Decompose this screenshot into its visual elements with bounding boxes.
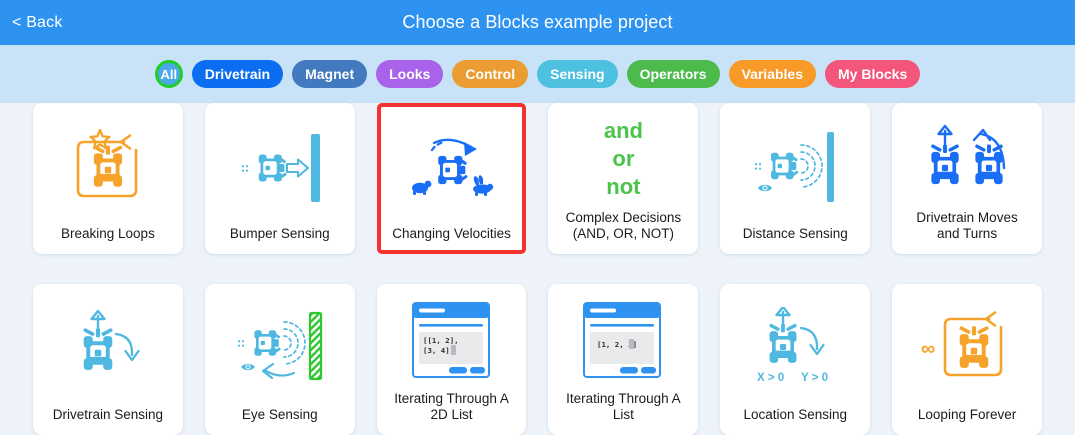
svg-text:X > 0: X > 0 xyxy=(757,372,784,384)
filter-chip-my-blocks[interactable]: My Blocks xyxy=(825,60,920,88)
project-card-label: Complex Decisions(AND, OR, NOT) xyxy=(566,210,682,246)
location-sensing-icon: X > 0 Y > 0 xyxy=(726,290,864,407)
filter-chip-sensing[interactable]: Sensing xyxy=(537,60,617,88)
filter-chip-variables[interactable]: Variables xyxy=(729,60,817,88)
project-card-label-line: Iterating Through A xyxy=(394,391,509,407)
project-card-eye-sensing[interactable]: Eye Sensing xyxy=(205,284,355,435)
breaking-loops-icon xyxy=(39,109,177,226)
filter-chip-label: All xyxy=(160,67,177,82)
project-card-drivetrain-moves-and-turns[interactable]: Drivetrain Movesand Turns xyxy=(892,103,1042,254)
distance-sensing-icon xyxy=(726,109,864,226)
project-card-label-line: (AND, OR, NOT) xyxy=(566,226,682,242)
example-project-browser: < Back Choose a Blocks example project A… xyxy=(0,0,1075,435)
logic-word: or xyxy=(612,146,634,173)
project-card-changing-velocities[interactable]: Changing Velocities xyxy=(377,103,527,254)
project-card-bumper-sensing[interactable]: Bumper Sensing xyxy=(205,103,355,254)
filter-chip-magnet[interactable]: Magnet xyxy=(292,60,367,88)
project-card-label-line: Complex Decisions xyxy=(566,210,682,226)
logic-words-art: andornot xyxy=(604,118,643,200)
project-card-label: Drivetrain Movesand Turns xyxy=(916,210,1017,246)
page-title: Choose a Blocks example project xyxy=(0,12,1075,33)
project-card-label-line: List xyxy=(566,407,681,423)
filter-chip-label: Operators xyxy=(640,66,707,82)
project-card-label: Distance Sensing xyxy=(743,226,848,246)
filter-chip-operators[interactable]: Operators xyxy=(627,60,720,88)
back-button[interactable]: < Back xyxy=(12,0,63,45)
logic-words-icon: andornot xyxy=(554,109,692,210)
svg-text:[[1, 2],: [[1, 2], xyxy=(423,336,459,345)
project-card-label: Changing Velocities xyxy=(392,226,511,246)
project-card-looping-forever[interactable]: ∞Looping Forever xyxy=(892,284,1042,435)
project-card-breaking-loops[interactable]: Breaking Loops xyxy=(33,103,183,254)
logic-word: and xyxy=(604,118,643,145)
filter-chip-label: Sensing xyxy=(550,66,604,82)
filter-chip-drivetrain[interactable]: Drivetrain xyxy=(192,60,283,88)
eye-sensing-icon xyxy=(211,290,349,407)
project-card-complex-decisions-and-or-not[interactable]: andornotComplex Decisions(AND, OR, NOT) xyxy=(548,103,698,254)
logic-word: not xyxy=(606,174,640,201)
project-card-label: Eye Sensing xyxy=(242,407,318,427)
project-card-label-line: Iterating Through A xyxy=(566,391,681,407)
project-card-distance-sensing[interactable]: Distance Sensing xyxy=(720,103,870,254)
filter-chip-all[interactable]: All xyxy=(155,60,183,88)
svg-text:[3, 4]]: [3, 4]] xyxy=(423,346,454,355)
changing-velocities-icon xyxy=(383,109,521,226)
svg-text:∞: ∞ xyxy=(921,338,935,360)
filter-chip-label: Looks xyxy=(389,66,430,82)
filter-chip-label: Variables xyxy=(742,66,804,82)
filter-chip-label: My Blocks xyxy=(838,66,907,82)
drivetrain-sensing-icon xyxy=(39,290,177,407)
project-card-label: Iterating Through AList xyxy=(566,391,681,427)
svg-text:Y > 0: Y > 0 xyxy=(801,372,828,384)
project-card-label-line: 2D List xyxy=(394,407,509,423)
project-card-iterating-through-a-list[interactable]: [1, 2, 3] Iterating Through AList xyxy=(548,284,698,435)
filter-chip-control[interactable]: Control xyxy=(452,60,528,88)
filter-chip-looks[interactable]: Looks xyxy=(376,60,443,88)
looping-forever-icon: ∞ xyxy=(898,290,1036,407)
filter-chip-label: Control xyxy=(465,66,515,82)
project-card-location-sensing[interactable]: X > 0 Y > 0Location Sensing xyxy=(720,284,870,435)
list-1d-icon: [1, 2, 3] xyxy=(554,290,692,391)
filter-chip-label: Magnet xyxy=(305,66,354,82)
list-2d-icon: [[1, 2], [3, 4]] xyxy=(383,290,521,391)
project-grid: Breaking Loops Bumper Sensing xyxy=(0,103,1075,435)
project-card-label: Location Sensing xyxy=(743,407,847,427)
project-card-label-line: Drivetrain Moves xyxy=(916,210,1017,226)
project-card-drivetrain-sensing[interactable]: Drivetrain Sensing xyxy=(33,284,183,435)
drivetrain-moves-icon xyxy=(898,109,1036,210)
project-card-label: Bumper Sensing xyxy=(230,226,330,246)
project-card-label: Breaking Loops xyxy=(61,226,155,246)
category-filter-bar: AllDrivetrainMagnetLooksControlSensingOp… xyxy=(0,45,1075,103)
project-card-label: Looping Forever xyxy=(918,407,1016,427)
project-card-iterating-through-a-2d-list[interactable]: [[1, 2], [3, 4]] Iterating Through A2D L… xyxy=(377,284,527,435)
bumper-sensing-icon xyxy=(211,109,349,226)
filter-chip-label: Drivetrain xyxy=(205,66,270,82)
project-card-label-line: and Turns xyxy=(916,226,1017,242)
header-bar: < Back Choose a Blocks example project xyxy=(0,0,1075,45)
project-card-label: Drivetrain Sensing xyxy=(53,407,163,427)
project-card-label: Iterating Through A2D List xyxy=(394,391,509,427)
